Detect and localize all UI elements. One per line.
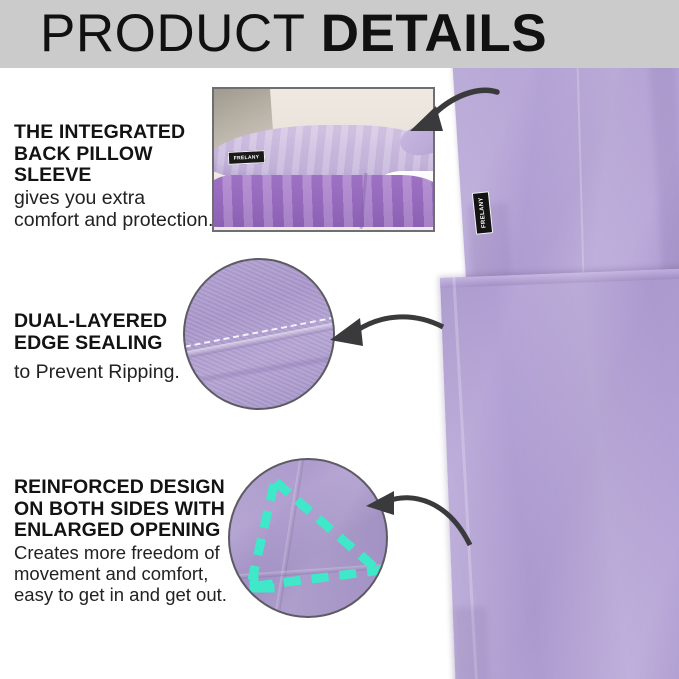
photo-brand-tag-text: FRELANY [234, 154, 260, 161]
fabric-shadow [453, 606, 490, 679]
body-line: to Prevent Ripping. [14, 361, 226, 383]
photo-pillow-under-texture [212, 175, 435, 227]
fabric-panel-top [452, 40, 679, 306]
body-line: easy to get in and get out. [14, 584, 242, 605]
body-line: movement and comfort, [14, 563, 242, 584]
page-title-bold: DETAILS [321, 4, 547, 63]
headline-line: BACK PILLOW SLEEVE [14, 144, 230, 187]
page-title: PRODUCT DETAILS [40, 6, 547, 62]
headline-line: REINFORCED DESIGN [14, 477, 242, 499]
feature-body: gives you extra comfort and protection. [14, 187, 230, 231]
body-line: comfort and protection. [14, 209, 230, 231]
body-line: gives you extra [14, 187, 230, 209]
header-band: PRODUCT DETAILS [0, 0, 679, 68]
feature-headline: DUAL-LAYERED EDGE SEALING [14, 311, 226, 354]
feature-text-pillow-sleeve: THE INTEGRATED BACK PILLOW SLEEVE gives … [14, 122, 230, 231]
brand-tag-text: FRELANY [478, 197, 487, 229]
headline-line: ENLARGED OPENING [14, 520, 242, 542]
highlight-triangle-icon [230, 460, 386, 616]
inset-photo-pillow-sleeve: FRELANY [212, 87, 435, 232]
feature-body: to Prevent Ripping. [14, 361, 226, 383]
feature-text-reinforced-opening: REINFORCED DESIGN ON BOTH SIDES WITH ENL… [14, 477, 242, 605]
headline-line: ON BOTH SIDES WITH [14, 499, 242, 521]
body-line: Creates more freedom of [14, 542, 242, 563]
photo-pillow-under [212, 175, 435, 227]
product-details-infographic: FRELANY PRODUCT DETAILS FRELANY [0, 0, 679, 679]
feature-text-edge-sealing: DUAL-LAYERED EDGE SEALING to Prevent Rip… [14, 311, 226, 383]
page-title-light: PRODUCT [40, 4, 306, 63]
inset-circle-reinforced-opening [228, 458, 388, 618]
feature-headline: THE INTEGRATED BACK PILLOW SLEEVE [14, 122, 230, 187]
headline-line: DUAL-LAYERED [14, 311, 226, 333]
photo-brand-tag: FRELANY [228, 150, 266, 165]
headline-line: THE INTEGRATED [14, 122, 230, 144]
headline-line: EDGE SEALING [14, 333, 226, 355]
feature-body: Creates more freedom of movement and com… [14, 542, 242, 605]
feature-headline: REINFORCED DESIGN ON BOTH SIDES WITH ENL… [14, 477, 242, 542]
fabric-panel-bottom [440, 266, 679, 679]
